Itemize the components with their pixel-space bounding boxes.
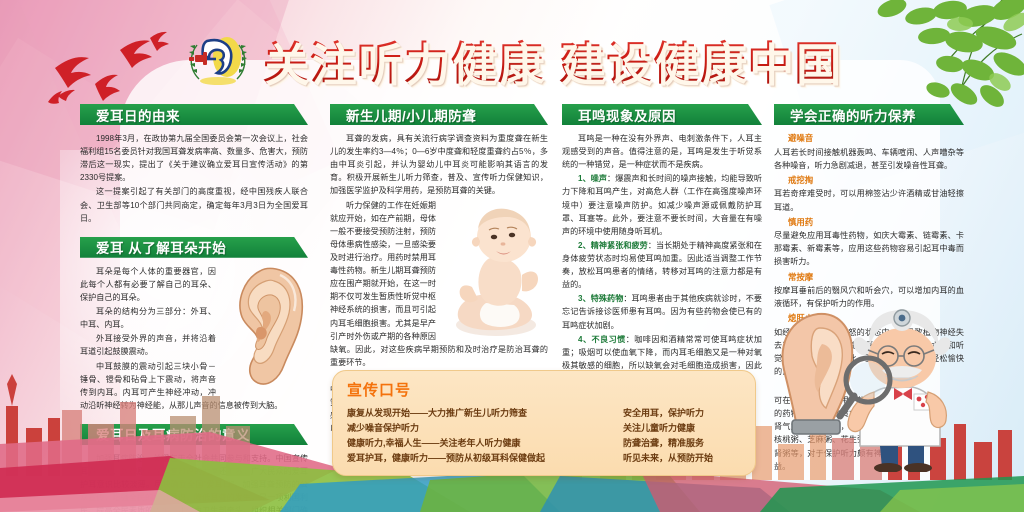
ear-anatomy-icon	[216, 265, 308, 389]
slogan-item: 康复从发现开始——大力推广新生儿听力筛查	[347, 406, 597, 421]
paragraph: 尽量避免应用耳毒性药物，如庆大霉素、链霉素、卡那霉素、新霉素等，应用这些药物容易…	[774, 229, 964, 268]
paragraph: 耳鸣是一种在没有外界声、电刺激条件下，人耳主观感受到的声音。值得注意的是，耳鸣是…	[562, 132, 762, 171]
section-banner: 新生儿期/小儿期防聋	[330, 104, 548, 125]
section-body: 耳鸣是一种在没有外界声、电刺激条件下，人耳主观感受到的声音。值得注意的是，耳鸣是…	[562, 132, 762, 385]
section-banner: 学会正确的听力保养	[774, 104, 964, 125]
item-number: 4、不良习惯	[578, 335, 626, 344]
love-ear-day-emblem-icon	[183, 29, 253, 89]
section-banner: 爱耳 从了解耳朵开始	[80, 237, 308, 258]
subheading: 戒挖掏	[788, 174, 964, 188]
section-heading: 爱耳 从了解耳朵开始	[80, 237, 226, 257]
slogan-item: 健康听力,幸福人生——关注老年人听力健康	[347, 436, 597, 451]
slogan-item: 关注儿童听力健康	[623, 421, 713, 436]
section-heading: 新生儿期/小儿期防聋	[330, 105, 476, 125]
paragraph: 耳聋的发病，具有关流行病学调查资料为重度聋在新生儿的发生率约3—4％；0—6岁中…	[330, 132, 548, 198]
list-item: 3、特殊药物：耳鸣患者由于其他疾病就诊时，不要忘记告诉接诊医师患有耳鸣。因为有些…	[562, 292, 762, 331]
section-heading: 爱耳日的由来	[80, 105, 180, 125]
item-number: 1、噪声	[578, 174, 607, 183]
section-banner: 耳鸣现象及原因	[562, 104, 762, 125]
item-number: 2、精神紧张和疲劳	[578, 241, 648, 250]
item-number: 3、特殊药物	[578, 294, 623, 303]
paragraph: 1998年3月，在政协第九届全国委员会第一次会议上，社会福利组15名委员针对我国…	[80, 132, 308, 184]
page-title: 关注听力健康 建设健康中国	[263, 27, 842, 92]
slogan-box: 宣传口号 康复从发现开始——大力推广新生儿听力筛查 减少噪音保护听力 健康听力,…	[332, 370, 756, 476]
slogan-list-right: 安全用耳，保护听力 关注儿童听力健康 防聋治聋，精准服务 听见未来，从预防开始	[623, 406, 713, 466]
subheading: 常按摩	[788, 271, 964, 285]
slogan-item: 防聋治聋，精准服务	[623, 436, 713, 451]
baby-photo-icon	[436, 199, 548, 341]
cartoon-doctor-with-magnifier-icon	[762, 296, 972, 472]
item-text: ：爆震声和长时间的噪声接触，均能导致听力下降和耳鸣产生，对高危人群（工作在高强度…	[562, 174, 762, 235]
slogan-item: 爱耳护耳，健康听力——预防从初级耳科保健做起	[347, 451, 597, 466]
paragraph: 耳若奇痒难受时，可以用棉签沾少许酒精或甘油轻擦耳道。	[774, 187, 964, 213]
slogan-item: 减少噪音保护听力	[347, 421, 597, 436]
poster-title-row: 关注听力健康 建设健康中国	[0, 26, 1024, 92]
section-heading: 学会正确的听力保养	[774, 105, 916, 125]
poster-canvas: 关注听力健康 建设健康中国 爱耳日的由来 1998年3月，在政协第九届全国委员会…	[0, 0, 1024, 512]
slogan-list-left: 康复从发现开始——大力推广新生儿听力筛查 减少噪音保护听力 健康听力,幸福人生—…	[347, 406, 597, 466]
section-body: 1998年3月，在政协第九届全国委员会第一次会议上，社会福利组15名委员针对我国…	[80, 132, 308, 225]
slogan-item: 安全用耳，保护听力	[623, 406, 713, 421]
slogan-item: 听见未来，从预防开始	[623, 451, 713, 466]
slogan-columns: 康复从发现开始——大力推广新生儿听力筛查 减少噪音保护听力 健康听力,幸福人生—…	[347, 406, 741, 466]
slogan-heading: 宣传口号	[347, 379, 741, 400]
list-item: 2、精神紧张和疲劳：当长期处于精神高度紧张和在身体疲劳状态时均易使耳鸣加重。因此…	[562, 239, 762, 291]
section-banner: 爱耳日的由来	[80, 104, 308, 125]
paragraph: 这一提案引起了有关部门的高度重视，经中国残疾人联合会、卫生部等10个部门共同商定…	[80, 185, 308, 224]
paragraph: 人耳若长时间接触机器轰鸣、车辆喧闹、人声嘈杂等各种噪音，听力急剧减退，甚至引发噪…	[774, 146, 964, 172]
subheading: 避噪音	[788, 132, 964, 146]
list-item: 1、噪声：爆震声和长时间的噪声接触，均能导致听力下降和耳鸣产生，对高危人群（工作…	[562, 172, 762, 238]
column-tinnitus-causes: 耳鸣现象及原因 耳鸣是一种在没有外界声、电刺激条件下，人耳主观感受到的声音。值得…	[562, 104, 762, 386]
subheading: 慎用药	[788, 216, 964, 230]
section-heading: 耳鸣现象及原因	[562, 105, 676, 125]
